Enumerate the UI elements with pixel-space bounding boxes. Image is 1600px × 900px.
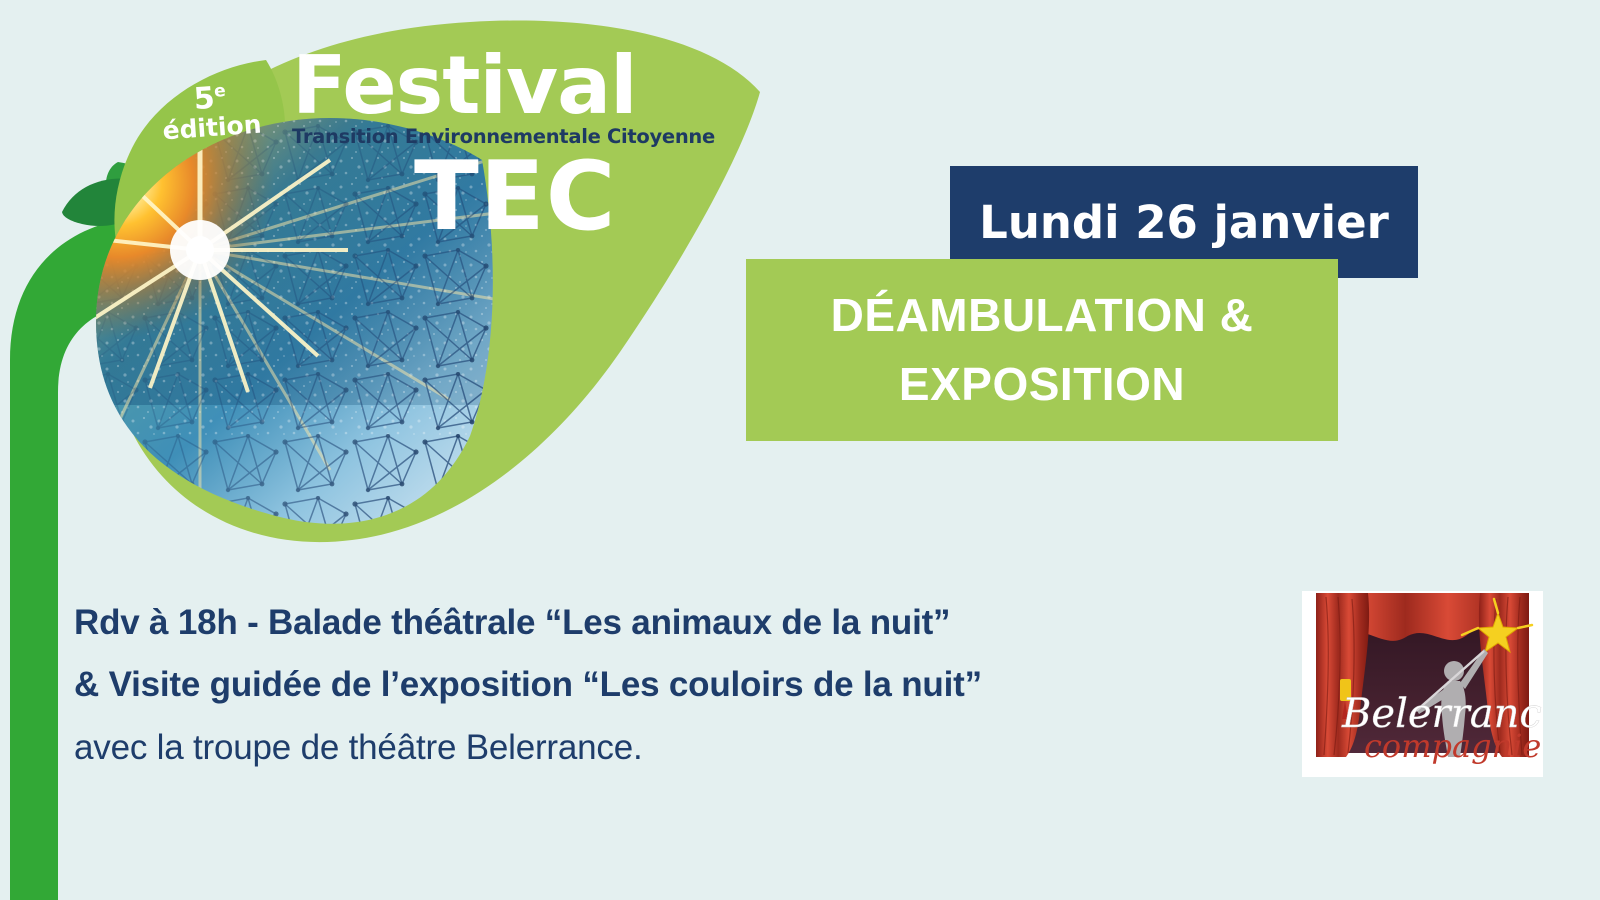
description-line-3: avec la troupe de théâtre Belerrance. bbox=[74, 717, 1284, 779]
edition-number-value: 5 bbox=[193, 81, 216, 117]
description-line-2: & Visite guidée de l’exposition “Les cou… bbox=[74, 654, 1284, 716]
edition-badge: 5e édition bbox=[144, 80, 278, 146]
poster-canvas: Festival Transition Environnementale Cit… bbox=[0, 0, 1600, 900]
belerrance-compagnie-logo: Belerrance compagnie bbox=[1302, 591, 1543, 777]
event-type-line-1: DÉAMBULATION & bbox=[831, 281, 1254, 350]
logo-subtitle: compagnie bbox=[1364, 727, 1541, 765]
edition-ordinal-suffix: e bbox=[214, 81, 227, 102]
description-line-1: Rdv à 18h - Balade théâtrale “Les animau… bbox=[74, 592, 1284, 654]
event-description: Rdv à 18h - Balade théâtrale “Les animau… bbox=[74, 592, 1284, 779]
event-type-line-2: EXPOSITION bbox=[831, 350, 1254, 419]
event-type-banner: DÉAMBULATION & EXPOSITION bbox=[746, 259, 1338, 441]
event-type-label: DÉAMBULATION & EXPOSITION bbox=[831, 281, 1254, 419]
date-banner-label: Lundi 26 janvier bbox=[979, 196, 1389, 249]
